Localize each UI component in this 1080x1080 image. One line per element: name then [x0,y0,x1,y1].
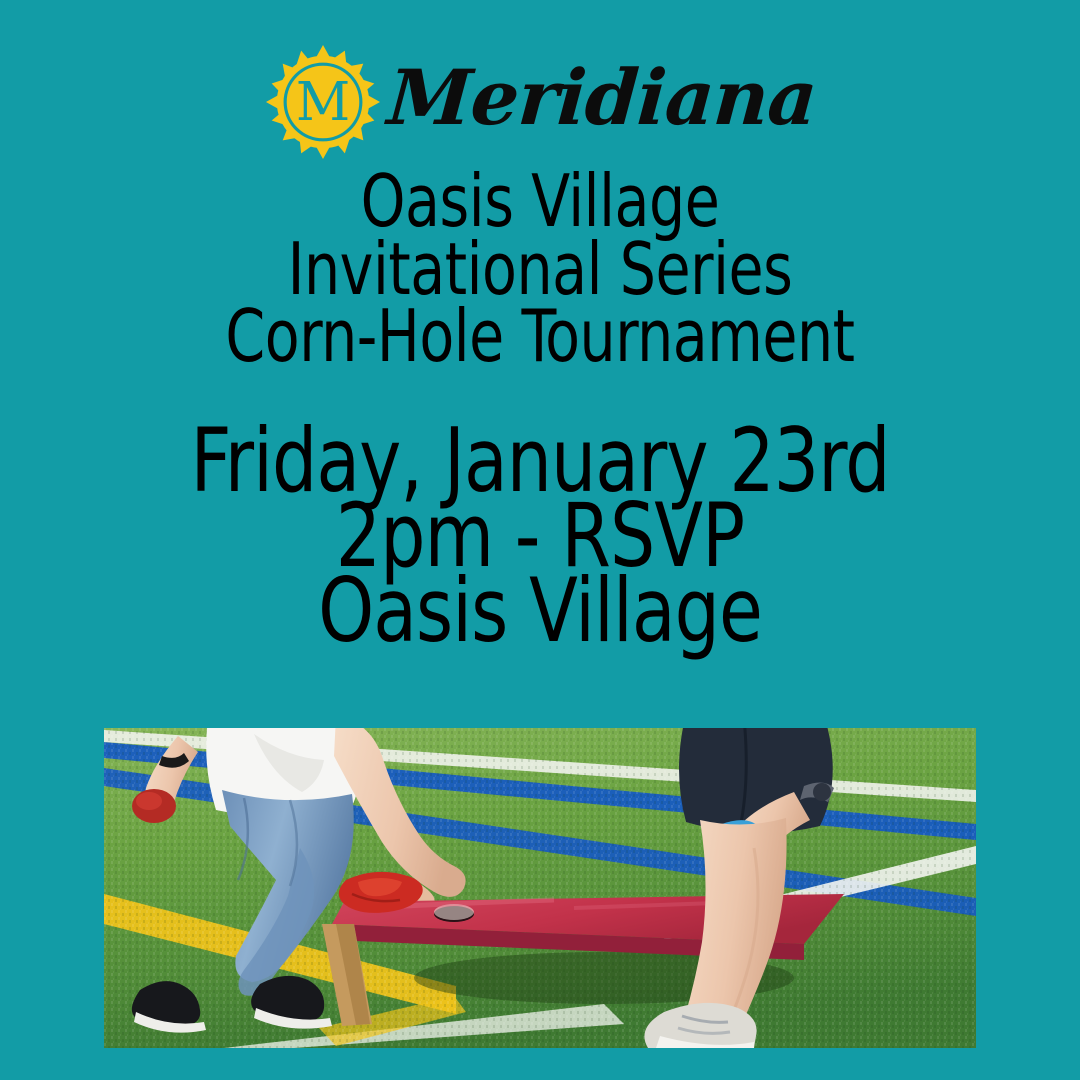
details-block: Friday, January 23rd 2pm - RSVP Oasis Vi… [0,424,1080,648]
event-flyer: M Meridiana Oasis Village Invitational S… [0,0,1080,1080]
photo-illustration [104,728,976,1048]
headline-block: Oasis Village Invitational Series Corn-H… [0,168,1080,371]
headline-line-3: Corn-Hole Tournament [65,303,1015,371]
brand-name: Meridiana [385,60,818,136]
event-location: Oasis Village [54,574,1026,649]
cornhole-game-photo [104,728,976,1048]
svg-text:M: M [296,71,350,133]
sun-burst-monogram-icon: M [264,43,382,161]
headline-line-2: Invitational Series [65,236,1015,304]
brand-lockup: M Meridiana [0,42,1080,162]
headline-line-1: Oasis Village [65,168,1015,236]
